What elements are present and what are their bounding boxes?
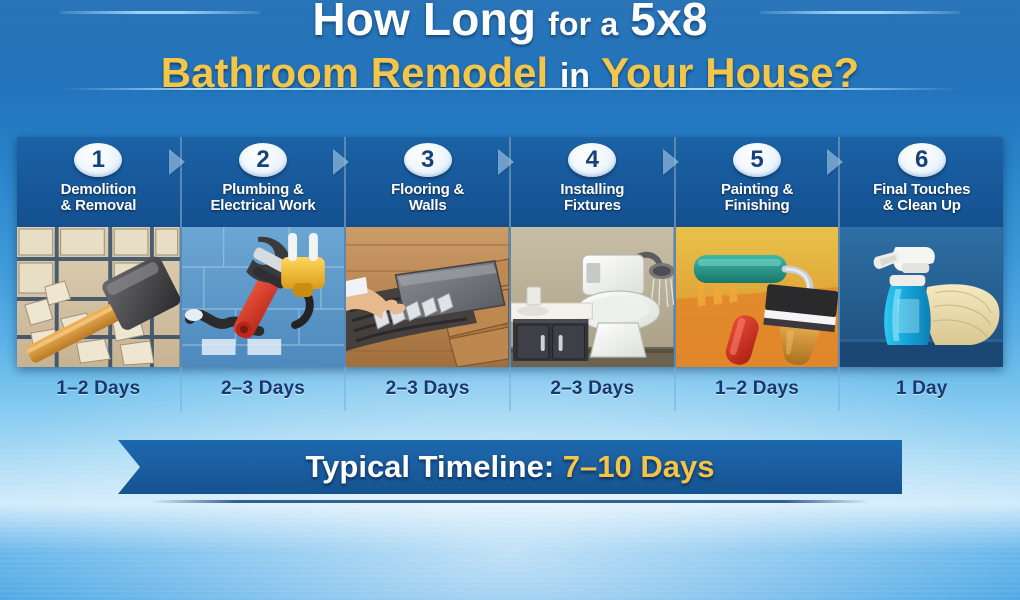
title-line-2: Bathroom Remodel in Your House?	[0, 49, 1020, 100]
step-4-header: 4 Installing Fixtures	[511, 137, 674, 227]
step-5-title: Painting & Finishing	[718, 182, 796, 214]
step-4-number-badge: 4	[568, 143, 616, 177]
paint-roller-brush-art	[676, 227, 839, 367]
banner-value: 7–10 Days	[563, 449, 715, 484]
banner-label: Typical Timeline:	[306, 449, 555, 484]
step-6-header: 6 Final Touches & Clean Up	[840, 137, 1003, 227]
step-2-title-line2: Electrical Work	[210, 198, 315, 214]
title-block: How Long for a 5x8 Bathroom Remodel in Y…	[0, 0, 1020, 104]
step-4-title: Installing Fixtures	[557, 182, 627, 214]
durations-row: 1–2 Days 2–3 Days 2–3 Days 2–3 Days 1–2 …	[17, 367, 1003, 411]
step-arrow-icon-6	[827, 149, 843, 175]
title-line1-part-b: for a	[548, 6, 618, 42]
step-arrow-icon-3	[333, 149, 349, 175]
infographic-canvas: How Long for a 5x8 Bathroom Remodel in Y…	[0, 0, 1020, 600]
step-2-header: 2 Plumbing & Electrical Work	[182, 137, 345, 227]
step-4[interactable]: 4 Installing Fixtures	[511, 137, 676, 367]
step-6-title-line2: & Clean Up	[873, 198, 970, 214]
duration-step-5: 1–2 Days	[676, 367, 841, 411]
step-3-number-badge: 3	[404, 143, 452, 177]
step-5-title-line2: Finishing	[721, 198, 793, 214]
duration-step-1: 1–2 Days	[17, 367, 182, 411]
title-line-1: How Long for a 5x8	[0, 0, 1020, 47]
step-1-title-line2: & Removal	[60, 198, 136, 214]
step-1-title-line1: Demolition	[61, 181, 137, 198]
step-4-title-line1: Installing	[560, 181, 624, 198]
title-rule-left	[60, 11, 260, 14]
spray-bottle-cloth-art	[840, 227, 1003, 367]
step-1-title: Demolition & Removal	[57, 182, 139, 214]
step-6-title: Final Touches & Clean Up	[870, 182, 973, 214]
pipe-wrench-plug-art	[182, 227, 345, 367]
step-6-number-badge: 6	[898, 143, 946, 177]
title-rule-right	[760, 11, 960, 14]
typical-timeline-banner: Typical Timeline: 7–10 Days	[118, 440, 902, 494]
step-3-title-line1: Flooring &	[391, 181, 464, 198]
banner-underline	[150, 500, 870, 503]
step-2-title-line1: Plumbing &	[222, 181, 303, 198]
duration-step-6: 1 Day	[840, 367, 1003, 411]
title-rule-under	[62, 88, 958, 90]
duration-step-4: 2–3 Days	[511, 367, 676, 411]
step-6-title-line1: Final Touches	[873, 181, 970, 198]
step-arrow-icon-5	[663, 149, 679, 175]
step-5-header: 5 Painting & Finishing	[676, 137, 839, 227]
step-5[interactable]: 5 Painting & Finishing	[676, 137, 841, 367]
step-6[interactable]: 6 Final Touches & Clean Up	[840, 137, 1003, 367]
step-3-header: 3 Flooring & Walls	[346, 137, 509, 227]
steps-card: 1 Demolition & Removal	[17, 137, 1003, 367]
step-4-title-line2: Fixtures	[560, 198, 624, 214]
duration-step-2: 2–3 Days	[182, 367, 347, 411]
step-arrow-icon-4	[498, 149, 514, 175]
banner-text: Typical Timeline: 7–10 Days	[306, 450, 715, 484]
step-3[interactable]: 3 Flooring & Walls	[346, 137, 511, 367]
step-1-number-badge: 1	[74, 143, 122, 177]
duration-step-3: 2–3 Days	[346, 367, 511, 411]
step-1-header: 1 Demolition & Removal	[17, 137, 180, 227]
step-3-title-line2: Walls	[391, 198, 464, 214]
title-line1-part-a: How Long	[312, 0, 536, 45]
step-5-number-badge: 5	[733, 143, 781, 177]
vanity-toilet-shower-art	[511, 227, 674, 367]
step-arrow-icon-2	[169, 149, 185, 175]
step-2[interactable]: 2 Plumbing & Electrical Work	[182, 137, 347, 367]
step-3-title: Flooring & Walls	[388, 182, 467, 214]
step-2-number-badge: 2	[239, 143, 287, 177]
step-5-title-line1: Painting &	[721, 181, 793, 198]
sledgehammer-broken-tile-art	[17, 227, 180, 367]
trowel-tile-laying-art	[346, 227, 509, 367]
title-line1-part-c: 5x8	[630, 0, 707, 45]
step-1[interactable]: 1 Demolition & Removal	[17, 137, 182, 367]
step-2-title: Plumbing & Electrical Work	[207, 182, 318, 214]
